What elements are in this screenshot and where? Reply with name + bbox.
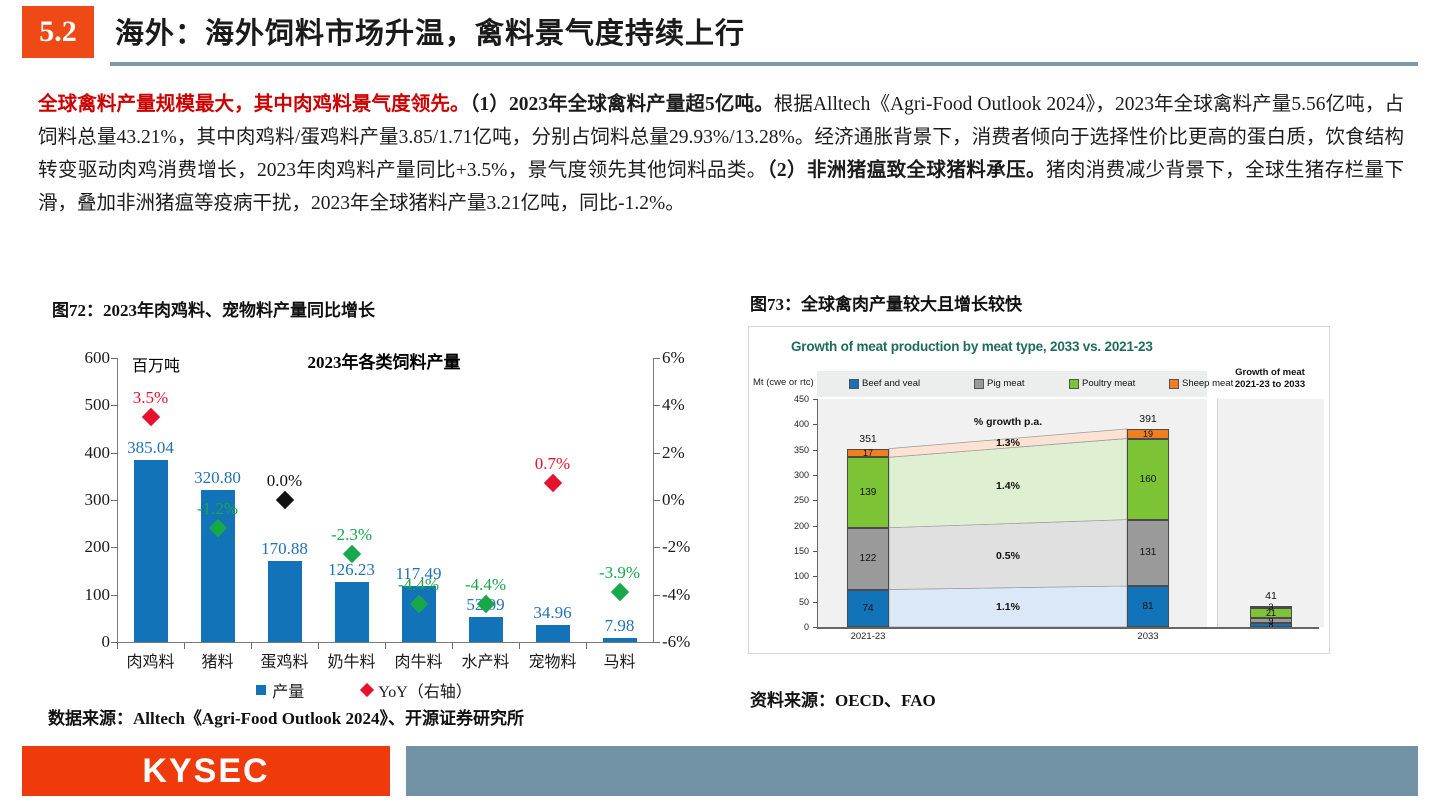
secondary-y-axis-tick-label: -2%: [662, 537, 708, 557]
legend-label-production: 产量: [272, 678, 304, 702]
yoy-value-label: -4.4%: [465, 575, 506, 595]
page-title: 海外：海外饲料市场升温，禽料景气度持续上行: [115, 10, 745, 52]
x-axis-tick-mark: [318, 643, 319, 649]
legend-item-beef-and-veal: Beef and veal: [849, 378, 920, 389]
bar-production: [603, 638, 637, 642]
x-axis-tick-mark: [184, 643, 185, 649]
legend-item-poultry-meat: Poultry meat: [1069, 378, 1135, 389]
x-axis-category-label: 肉牛料: [394, 648, 442, 672]
bar-value-label: 7.98: [605, 616, 635, 636]
stacked-segment: 9: [1250, 618, 1292, 623]
chart-right-growth-panel: 8921341: [1217, 399, 1324, 627]
side-panel-title-line2: 2021-23 to 2033: [1215, 379, 1325, 391]
footer-logo: KYSEC: [22, 746, 390, 796]
y-axis-tick-label: 300: [64, 490, 110, 510]
y-axis-line: [817, 399, 818, 627]
header-divider-gap: [22, 58, 110, 66]
stacked-segment: 19: [1127, 429, 1169, 439]
paragraph-bold-2: （2）非洲猪瘟致全球猪料承压。: [767, 160, 1046, 181]
paragraph-bold-1: （1）2023年全球禽料产量超5亿吨。: [470, 94, 774, 115]
legend-label: Pig meat: [987, 378, 1025, 389]
secondary-y-axis-tick-mark: [653, 358, 660, 359]
bar-production: [268, 561, 302, 642]
legend-item-pig-meat: Pig meat: [974, 378, 1025, 389]
stacked-segment: 3: [1250, 606, 1292, 608]
header-divider: [22, 62, 1418, 66]
yoy-value-label: -2.3%: [331, 525, 372, 545]
yoy-value-label: -1.2%: [197, 499, 238, 519]
bar-value-label: 320.80: [194, 468, 241, 488]
x-axis-category-label: 2021-23: [851, 631, 886, 642]
figure-caption-left: 图72：2023年肉鸡料、宠物料产量同比增长: [52, 296, 375, 321]
column-total-label: 351: [859, 433, 877, 445]
square-icon: [974, 379, 984, 389]
legend-item-production: 产量: [256, 678, 304, 702]
yoy-value-label: -3.9%: [599, 563, 640, 583]
chart-right-title: Growth of meat production by meat type, …: [791, 339, 1153, 354]
y-axis-tick-label: 450: [781, 394, 809, 404]
chart-right-plot-area: 1.1%0.5%1.4%1.3%741221391781131160193513…: [817, 399, 1207, 627]
footer-bar: [406, 746, 1418, 796]
stacked-segment: 81: [1127, 586, 1169, 627]
secondary-y-axis-tick-mark: [653, 405, 660, 406]
secondary-y-axis-tick-mark: [653, 547, 660, 548]
y-axis-tick-mark: [111, 405, 118, 406]
chart-meat-production: Growth of meat production by meat type, …: [748, 326, 1330, 654]
legend-label-yoy: YoY（右轴）: [378, 678, 472, 702]
chart-feed-production: 2023年各类饲料产量 百万吨 60050040030020010006%4%2…: [34, 330, 694, 690]
secondary-y-axis-tick-label: -4%: [662, 585, 708, 605]
square-icon: [1169, 379, 1179, 389]
y-axis-tick-label: 200: [781, 521, 809, 531]
y-axis-tick-mark: [111, 358, 118, 359]
square-icon: [256, 685, 266, 695]
footer-logo-text: KYSEC: [142, 752, 269, 791]
y-axis-tick-mark: [111, 453, 118, 454]
yoy-value-label: 3.5%: [133, 388, 168, 408]
stacked-segment: 131: [1127, 520, 1169, 586]
growth-rate-label: 1.3%: [996, 437, 1020, 449]
side-panel-title-line1: Growth of meat: [1215, 367, 1325, 379]
x-axis-line: [817, 627, 1319, 629]
x-axis-category-label: 宠物料: [528, 648, 576, 672]
bar-production: [134, 460, 168, 642]
y-axis-tick-label: 0: [64, 632, 110, 652]
y-axis-tick-label: 400: [64, 443, 110, 463]
y-axis-tick-label: 300: [781, 470, 809, 480]
secondary-y-axis-tick-mark: [653, 453, 660, 454]
x-axis-category-label: 2033: [1137, 631, 1158, 642]
stacked-segment: 139: [847, 457, 889, 527]
stacked-segment: 122: [847, 528, 889, 590]
page-header: 5.2 海外：海外饲料市场升温，禽料景气度持续上行: [0, 0, 1440, 66]
column-total-label: 391: [1139, 413, 1157, 425]
secondary-y-axis-tick-label: 2%: [662, 443, 708, 463]
growth-column-total-label: 41: [1265, 590, 1277, 602]
x-axis-category-label: 肉鸡料: [126, 648, 174, 672]
chart-right-unit-label: Mt (cwe or rtc): [753, 377, 814, 388]
legend-label: Beef and veal: [862, 378, 920, 389]
yoy-value-label: 0.7%: [535, 454, 570, 474]
bar-production: [536, 625, 570, 642]
square-icon: [849, 379, 859, 389]
secondary-y-axis-tick-mark: [653, 642, 660, 643]
bar-production: [335, 582, 369, 642]
x-axis-tick-mark: [117, 643, 118, 649]
y-axis-tick-label: 100: [64, 585, 110, 605]
y-axis-tick-label: 600: [64, 348, 110, 368]
source-note-left: 数据来源：Alltech《Agri-Food Outlook 2024》、开源证…: [48, 704, 524, 729]
y-axis-tick-label: 50: [781, 597, 809, 607]
secondary-y-axis-tick-label: 4%: [662, 395, 708, 415]
y-axis-tick-label: 200: [64, 537, 110, 557]
x-axis-category-label: 水产料: [461, 648, 509, 672]
y-axis-tick-label: 350: [781, 445, 809, 455]
x-axis-category-label: 猪料: [201, 648, 233, 672]
bar-production: [469, 617, 503, 642]
chart-left-legend: 产量 YoY（右轴）: [34, 678, 694, 702]
source-note-right: 资料来源：OECD、FAO: [750, 686, 936, 711]
figure-caption-right: 图73：全球禽肉产量较大且增长较快: [750, 290, 1022, 315]
y-axis-tick-label: 0: [781, 622, 809, 632]
secondary-y-axis-tick-label: 6%: [662, 348, 708, 368]
x-axis-category-label: 马料: [603, 648, 635, 672]
y-axis-tick-label: 400: [781, 419, 809, 429]
x-axis-tick-mark: [452, 643, 453, 649]
stacked-segment: 17: [847, 449, 889, 458]
secondary-y-axis-tick-mark: [653, 595, 660, 596]
legend-item-yoy: YoY（右轴）: [362, 678, 472, 702]
y-axis-tick-label: 100: [781, 571, 809, 581]
bar-value-label: 34.96: [533, 603, 571, 623]
body-paragraph: 全球禽料产量规模最大，其中肉鸡料景气度领先。（1）2023年全球禽料产量超5亿吨…: [38, 88, 1404, 220]
bar-value-label: 385.04: [127, 438, 174, 458]
y-axis-tick-mark: [111, 595, 118, 596]
section-number-badge: 5.2: [22, 6, 94, 58]
bar-value-label: 170.88: [261, 539, 308, 559]
x-axis-category-label: 蛋鸡料: [260, 648, 308, 672]
y-axis-tick-label: 250: [781, 495, 809, 505]
secondary-y-axis-tick-label: 0%: [662, 490, 708, 510]
legend-label: Poultry meat: [1082, 378, 1135, 389]
x-axis-tick-mark: [586, 643, 587, 649]
growth-note-label: % growth p.a.: [974, 416, 1042, 428]
secondary-y-axis-tick-mark: [653, 500, 660, 501]
yoy-value-label: -4.4%: [398, 575, 439, 595]
side-panel-title: Growth of meat 2021-23 to 2033: [1215, 367, 1325, 391]
y-axis-tick-mark: [111, 547, 118, 548]
stacked-segment: 74: [847, 590, 889, 627]
y-axis-tick-label: 150: [781, 546, 809, 556]
y-axis-tick-label: 500: [64, 395, 110, 415]
square-icon: [1069, 379, 1079, 389]
secondary-y-axis-tick-label: -6%: [662, 632, 708, 652]
yoy-value-label: 0.0%: [267, 471, 302, 491]
x-axis-tick-mark: [251, 643, 252, 649]
paragraph-lead: 全球禽料产量规模最大，其中肉鸡料景气度领先。: [38, 94, 470, 115]
x-axis-tick-mark: [385, 643, 386, 649]
x-axis-category-label: 奶牛料: [327, 648, 375, 672]
x-axis-tick-mark: [519, 643, 520, 649]
diamond-icon: [360, 683, 374, 697]
y-axis-tick-mark: [111, 500, 118, 501]
stacked-segment: 160: [1127, 439, 1169, 520]
growth-band: [889, 399, 1127, 627]
